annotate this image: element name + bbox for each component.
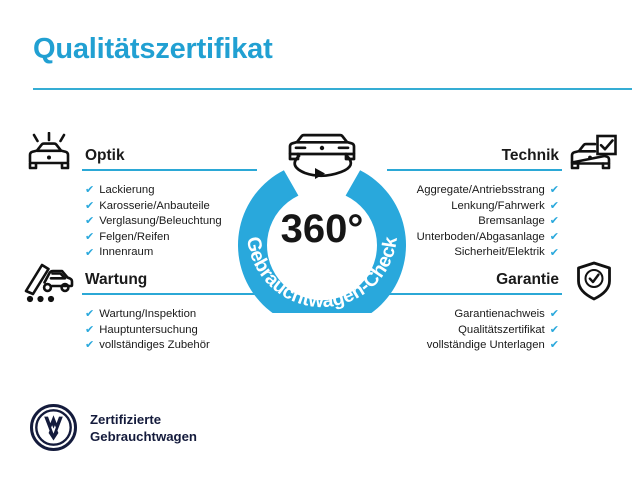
list-item-label: Karosserie/Anbauteile: [99, 199, 210, 215]
check-icon: ✔: [550, 248, 559, 259]
list-item-label: Hauptuntersuchung: [99, 323, 198, 339]
list-item-label: vollständiges Zubehör: [99, 338, 210, 354]
check-icon: ✔: [85, 248, 94, 259]
list-item-label: Qualitätszertifikat: [458, 323, 545, 339]
check-icon: ✔: [85, 232, 94, 243]
car-lift-icon: [22, 258, 76, 309]
check-icon: ✔: [85, 216, 94, 227]
check-icon: ✔: [550, 325, 559, 336]
footer-text: Zertifizierte Gebrauchtwagen: [90, 411, 197, 445]
check-icon: ✔: [550, 216, 559, 227]
badge-360-gebrauchtwagen-check: Gebrauchtwagen-Check 360°: [227, 118, 417, 313]
check-icon: ✔: [550, 185, 559, 196]
check-icon: ✔: [550, 201, 559, 212]
check-icon: ✔: [550, 232, 559, 243]
list-item-label: Innenraum: [99, 245, 153, 261]
list-item: ✔Hauptuntersuchung: [82, 323, 257, 339]
section-garantie-list: ✔Garantienachweis ✔Qualitätszertifikat ✔…: [387, 307, 562, 354]
check-icon: ✔: [85, 201, 94, 212]
check-icon: ✔: [85, 325, 94, 336]
page-title: Qualitätszertifikat: [33, 33, 273, 66]
list-item-label: vollständige Unterlagen: [427, 338, 545, 354]
list-item-label: Lenkung/Fahrwerk: [451, 199, 545, 215]
check-icon: ✔: [550, 309, 559, 320]
section-wartung-list: ✔Wartung/Inspektion ✔Hauptuntersuchung ✔…: [82, 307, 257, 354]
header-divider: [33, 88, 632, 90]
list-item-label: Unterboden/Abgasanlage: [417, 230, 545, 246]
badge-center-label: 360°: [281, 207, 364, 251]
list-item-label: Wartung/Inspektion: [99, 307, 196, 323]
list-item-label: Bremsanlage: [478, 214, 545, 230]
list-item: ✔vollständiges Zubehör: [82, 338, 257, 354]
car-rotation-icon: [290, 135, 354, 179]
car-checkbox-icon: [568, 132, 618, 181]
list-item-label: Sicherheit/Elektrik: [454, 245, 544, 261]
footer-line-1: Zertifizierte: [90, 411, 197, 428]
check-icon: ✔: [85, 185, 94, 196]
list-item-label: Verglasung/Beleuchtung: [99, 214, 221, 230]
list-item-label: Lackierung: [99, 183, 154, 199]
check-icon: ✔: [550, 340, 559, 351]
footer-branding: Zertifizierte Gebrauchtwagen: [30, 404, 197, 451]
car-shine-icon: [24, 132, 74, 181]
list-item: ✔vollständige Unterlagen: [387, 338, 562, 354]
quality-certificate-page: Qualitätszertifikat: [0, 0, 640, 480]
list-item-label: Aggregate/Antriebsstrang: [417, 183, 545, 199]
footer-line-2: Gebrauchtwagen: [90, 428, 197, 445]
check-icon: ✔: [85, 309, 94, 320]
list-item: ✔Qualitätszertifikat: [387, 323, 562, 339]
shield-check-icon: [574, 260, 614, 307]
check-icon: ✔: [85, 340, 94, 351]
vw-logo: [30, 404, 77, 451]
list-item-label: Garantienachweis: [454, 307, 544, 323]
list-item-label: Felgen/Reifen: [99, 230, 169, 246]
